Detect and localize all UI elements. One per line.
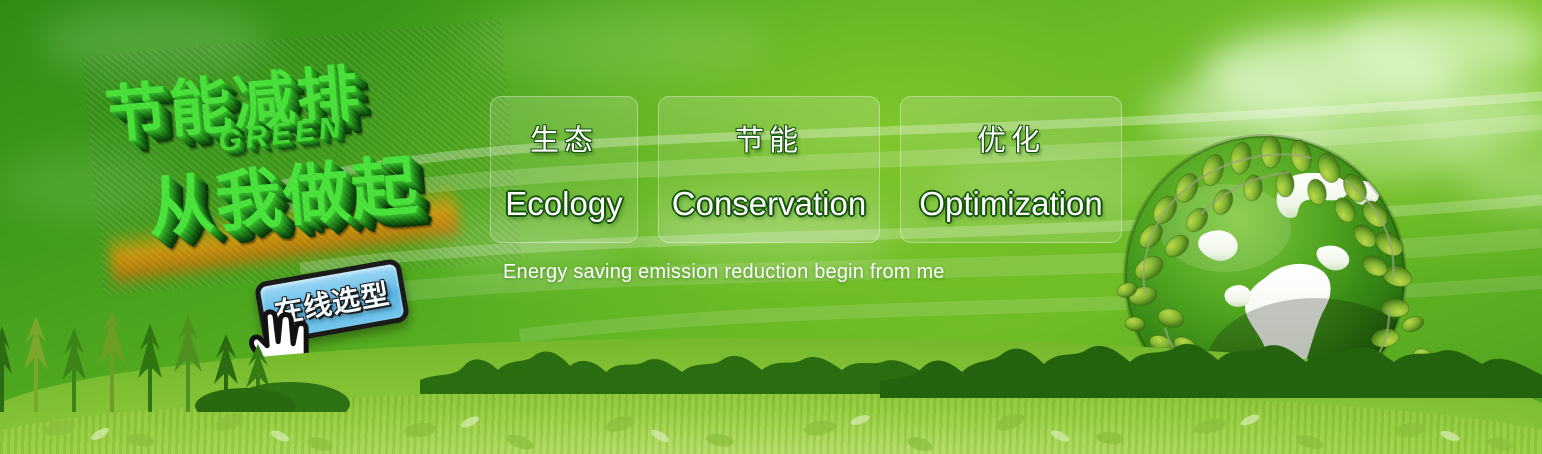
feature-card-cn-label: 生态: [530, 117, 598, 159]
feature-card-en-label: Conservation: [672, 185, 866, 223]
feature-card-cn-label: 节能: [735, 117, 803, 159]
banner-root: 节能减排 从我做起 GREEN 在线选型 生态 Ecology 节能 Conse…: [0, 0, 1542, 454]
banner-subtitle: Energy saving emission reduction begin f…: [503, 261, 945, 284]
headline-3d-text: 节能减排 从我做起 GREEN: [82, 20, 521, 296]
feature-card-list: 生态 Ecology 节能 Conservation 优化 Optimizati…: [490, 96, 1122, 243]
leaf-icon: [0, 384, 1542, 454]
feature-card-conservation[interactable]: 节能 Conservation: [658, 96, 880, 243]
cloud-icon: [1460, 150, 1542, 210]
feature-card-en-label: Ecology: [505, 185, 622, 223]
feature-card-en-label: Optimization: [919, 185, 1102, 223]
feature-card-cn-label: 优化: [977, 117, 1045, 159]
cloud-icon: [1200, 28, 1460, 124]
cloud-icon: [470, 8, 770, 80]
cloud-icon: [1340, 6, 1542, 84]
feature-card-optimization[interactable]: 优化 Optimization: [900, 96, 1122, 243]
feature-card-ecology[interactable]: 生态 Ecology: [490, 96, 638, 243]
